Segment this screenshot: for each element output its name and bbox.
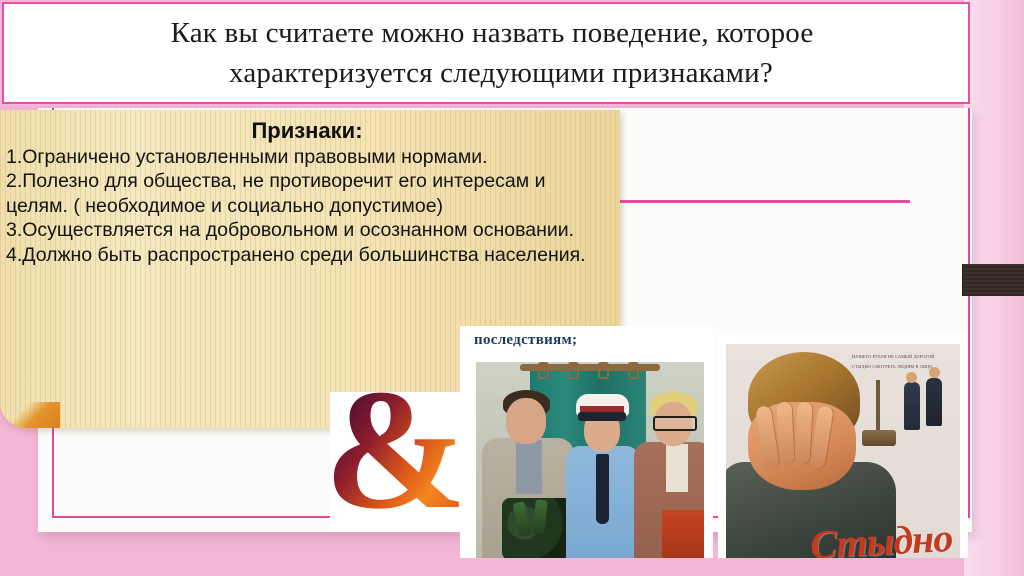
poster-inset-text-line-1: НАШЕГО РУБЛЯ НЕ САМЫЙ ДОРОГОЙ	[852, 354, 944, 360]
poster-panel: НАШЕГО РУБЛЯ НЕ САМЫЙ ДОРОГОЙ СТЫДНО СМО…	[718, 334, 968, 558]
list-item: 1.Ограничено установленными правовыми но…	[6, 145, 610, 169]
film-caption: последствиям;	[474, 332, 577, 349]
slide-title-frame: Как вы считаете можно назвать поведение,…	[2, 2, 970, 104]
brown-accent-bar	[962, 264, 1024, 296]
poster-machine-base	[862, 430, 896, 446]
character-left-shirt	[516, 440, 542, 494]
poster-artwork: НАШЕГО РУБЛЯ НЕ САМЫЙ ДОРОГОЙ СТЫДНО СМО…	[726, 344, 960, 558]
list-item: 2.Полезно для общества, не противоречит …	[6, 169, 610, 218]
poster-worker-head	[906, 372, 917, 383]
glasses-icon	[653, 416, 697, 431]
curtain-ring	[598, 362, 609, 379]
film-still-panel: последствиям;	[460, 326, 713, 558]
page-title-line-1: Как вы считаете можно назвать поведение,…	[159, 13, 814, 53]
divider-rule	[620, 200, 910, 203]
poster-finger	[776, 402, 794, 465]
curtain-ring	[568, 362, 579, 379]
list-item: 4.Должно быть распространено среди больш…	[6, 243, 610, 267]
ampersand-glyph: &	[324, 364, 467, 536]
page-title-line-2: характеризуется следующими признаками?	[199, 53, 773, 93]
character-right-shirt	[666, 444, 688, 492]
poster-worker-figure	[904, 382, 920, 430]
character-left-head	[506, 398, 546, 444]
poster-worker-figure	[926, 378, 942, 426]
facts-list: 1.Ограничено установленными правовыми но…	[4, 145, 610, 267]
curtain-ring	[628, 362, 639, 379]
red-book	[662, 510, 704, 558]
policeman-tie	[596, 454, 609, 524]
curtain-ring	[538, 362, 549, 379]
poster-title: Стыдно !	[809, 513, 960, 558]
poster-machine-post	[876, 380, 880, 432]
presentation-slide: Как вы считаете можно назвать поведение,…	[0, 0, 1024, 576]
policeman-cap-brim	[578, 412, 626, 421]
poster-worker-head	[929, 367, 940, 378]
film-photo	[476, 362, 704, 558]
facts-heading: Признаки:	[4, 118, 610, 144]
list-item: 3.Осуществляется на добровольном и осозн…	[6, 218, 610, 242]
